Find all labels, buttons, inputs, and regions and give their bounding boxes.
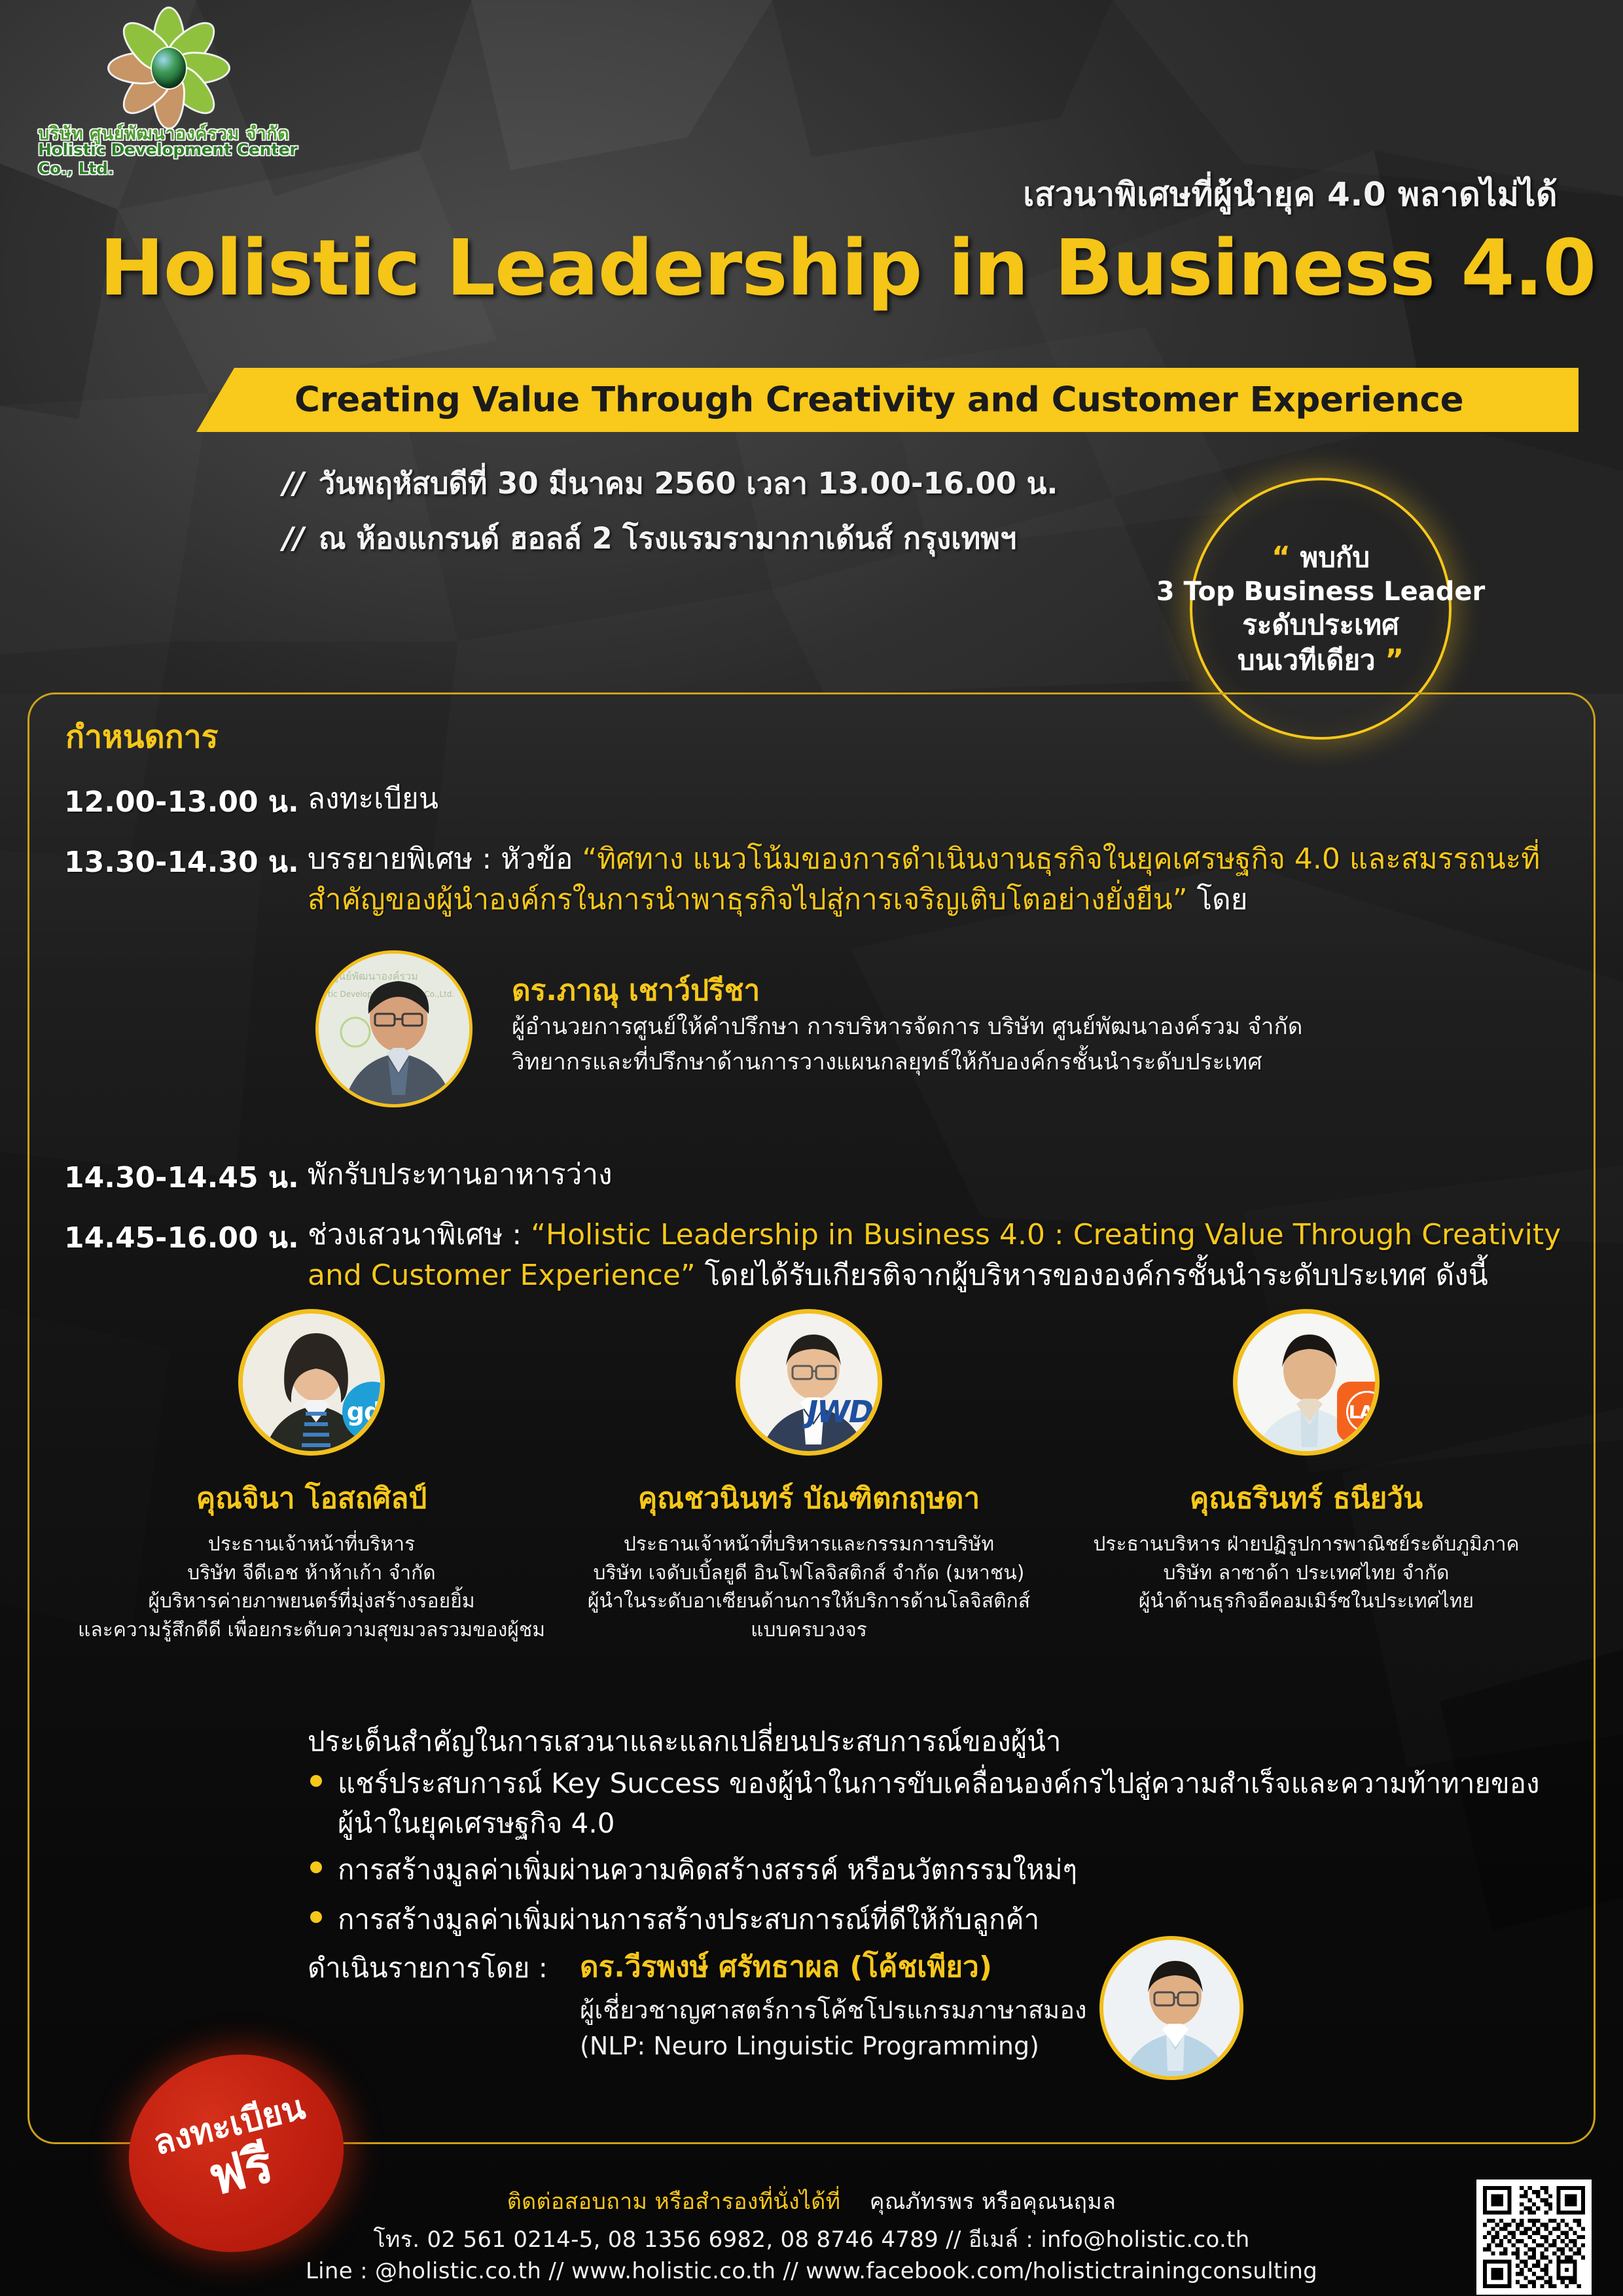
gdh-logo-text: gdh: [347, 1397, 385, 1426]
panelist-photo-1: JWD GROUP THINK EVERYTHING LOGISTICS: [736, 1309, 882, 1456]
jwd-logo-sub2: THINK EVERYTHING LOGISTICS: [875, 1408, 882, 1432]
panelist-name-0: คุณจินา โอสถศิลป์: [63, 1475, 560, 1521]
agenda-text-3-after: โดยได้รับเกียรติจากผู้บริหารขององค์กรชั้…: [696, 1259, 1488, 1292]
qr-code-icon[interactable]: [1476, 2179, 1592, 2295]
moderator-label: ดำเนินรายการโดย :: [308, 1946, 548, 1990]
svg-text:ศูนย์พัฒนาองค์รวม: ศูนย์พัฒนาองค์รวม: [332, 970, 418, 983]
keynote-speaker-photo: ศูนย์พัฒนาองค์รวม tic Development Center…: [315, 950, 473, 1107]
panelist-photo-2: LAZ: [1233, 1309, 1380, 1456]
jwd-group-logo-icon: JWD GROUP THINK EVERYTHING LOGISTICS: [807, 1382, 882, 1442]
agenda-text-3: ช่วงเสวนาพิเศษ : “Holistic Leadership in…: [308, 1215, 1564, 1297]
jwd-logo-sub: GROUP: [875, 1392, 882, 1408]
agenda-text-3-before: ช่วงเสวนาพิเศษ :: [308, 1218, 531, 1251]
badge-line-4-text: บนเวทีเดียว: [1238, 644, 1376, 676]
brand-logo: บริษัท ศูนย์พัฒนาองค์รวม จำกัด Holistic …: [38, 9, 313, 179]
page-title: Holistic Leadership in Business 4.0 :: [99, 223, 1565, 313]
footer-contact-names: คุณภัทรพร หรือคุณนฤมล: [870, 2189, 1116, 2215]
panelist-0-role-line-0: ประธานเจ้าหน้าที่บริหาร: [63, 1530, 560, 1559]
agenda-time-2: 14.30-14.45 น.: [64, 1155, 299, 1200]
panelist-1-role-line-1: บริษัท เจดับเบิ้ลยูดี อินโฟโลจิสติกส์ จำ…: [560, 1559, 1058, 1588]
topic-bullet-2: การสร้างมูลค่าเพิ่มผ่านการสร้างประสบการณ…: [308, 1899, 1564, 1939]
moderator-name: ดร.วีรพงษ์ ศรัทธาผล (โค้ชเพียว): [580, 1944, 992, 1990]
panelist-card-2: LAZ คุณธรินทร์ ธนียวัน ประธานบริหาร ฝ่าย…: [1058, 1309, 1555, 1616]
lazada-logo-text: LAZ: [1346, 1391, 1380, 1433]
subtitle-band: Creating Value Through Creativity and Cu…: [196, 368, 1578, 432]
agenda-time-3: 14.45-16.00 น.: [64, 1215, 299, 1261]
panelist-0-role-line-1: บริษัท จีดีเอช ห้าห้าเก้า จำกัด: [63, 1559, 560, 1588]
page-subtitle: Creating Value Through Creativity and Cu…: [294, 380, 1463, 420]
panelist-2-role-line-1: บริษัท ลาซาด้า ประเทศไทย จำกัด: [1058, 1559, 1555, 1588]
badge-line-1: “ พบกับ: [1272, 539, 1370, 575]
panelist-0-role-line-2: ผู้บริหารค่ายภาพยนตร์ที่มุ่งสร้างรอยยิ้ม: [63, 1587, 560, 1616]
panelist-role-2: ประธานบริหาร ฝ่ายปฏิรูปการพาณิชย์ระดับภู…: [1058, 1530, 1555, 1616]
topic-bullet-0: แชร์ประสบการณ์ Key Success ของผู้นำในการ…: [308, 1763, 1564, 1844]
badge-line-3: ระดับประเทศ: [1242, 608, 1399, 643]
moderator-line-2: ผู้เชี่ยวชาญศาสตร์การโค้ชโปรแกรมภาษาสมอง: [580, 1990, 1087, 2030]
panelist-2-role-line-2: ผู้นำด้านธุรกิจอีคอมเมิร์ซในประเทศไทย: [1058, 1587, 1555, 1616]
moderator-photo: [1099, 1936, 1243, 2080]
panelist-role-0: ประธานเจ้าหน้าที่บริหาร บริษัท จีดีเอช ห…: [63, 1530, 560, 1644]
panelist-role-1: ประธานเจ้าหน้าที่บริหารและกรรมการบริษัท …: [560, 1530, 1058, 1644]
footer-phone-email: โทร. 02 561 0214-5, 08 1356 6982, 08 874…: [0, 2221, 1623, 2257]
agenda-heading: กำหนดการ: [65, 712, 218, 762]
footer-contact-prefix: ติดต่อสอบถาม หรือสำรองที่นั่งได้ที่: [507, 2189, 841, 2215]
agenda-text-1-after: โดย: [1188, 883, 1248, 916]
quote-close-icon: ”: [1385, 643, 1404, 677]
badge-line-4: บนเวทีเดียว ”: [1238, 642, 1404, 678]
slash-marker-date: //: [283, 466, 304, 501]
panelist-name-2: คุณธรินทร์ ธนียวัน: [1058, 1475, 1555, 1521]
jwd-logo-text: JWD: [807, 1394, 872, 1429]
lazada-logo-icon: LAZ: [1337, 1382, 1380, 1442]
panelist-card-1: JWD GROUP THINK EVERYTHING LOGISTICS คุณ…: [560, 1309, 1058, 1644]
panelist-photo-0: gdh GROSS DOMESTIC HAPPINESS: [238, 1309, 385, 1456]
footer-web-social: Line : @holistic.co.th // www.holistic.c…: [0, 2258, 1623, 2284]
agenda-text-2: พักรับประทานอาหารว่าง: [308, 1155, 1564, 1195]
agenda-time-1: 13.30-14.30 น.: [64, 839, 299, 885]
agenda-text-1-before: บรรยายพิเศษ : หัวข้อ: [308, 842, 582, 876]
badge-line-2: 3 Top Business Leader: [1156, 575, 1486, 608]
footer-contact-line: ติดต่อสอบถาม หรือสำรองที่นั่งได้ที่ คุณภ…: [0, 2183, 1623, 2219]
panelist-0-role-line-3: และความรู้สึกดีดี เพื่อยกระดับความสุขมวล…: [63, 1616, 560, 1645]
badge-line-1-text: พบกับ: [1300, 541, 1370, 573]
event-venue: //ณ ห้องแกรนด์ ฮอลล์ 2 โรงแรมรามากาเด้นส…: [283, 514, 1016, 562]
globe-icon: [152, 48, 186, 88]
poster-canvas: บริษัท ศูนย์พัฒนาองค์รวม จำกัด Holistic …: [0, 0, 1623, 2296]
panelist-card-0: gdh GROSS DOMESTIC HAPPINESS คุณจินา โอส…: [63, 1309, 560, 1644]
brand-name-en: Holistic Development Center Co., Ltd.: [38, 140, 313, 178]
keynote-desc-line-1: ผู้อำนวยการศูนย์ให้คำปรึกษา การบริหารจัด…: [512, 1009, 1585, 1045]
event-date: //วันพฤหัสบดีที่ 30 มีนาคม 2560 เวลา 13.…: [283, 459, 1058, 507]
agenda-text-1: บรรยายพิเศษ : หัวข้อ “ทิศทาง แนวโน้มของก…: [308, 839, 1564, 921]
topic-bullet-1: การสร้างมูลค่าเพิ่มผ่านความคิดสร้างสรรค์…: [308, 1850, 1564, 1890]
flower-globe-logo-icon: [97, 9, 241, 127]
keynote-speaker-name: ดร.ภาณุ เชาว์ปรีชา: [512, 967, 760, 1013]
panelist-1-role-line-0: ประธานเจ้าหน้าที่บริหารและกรรมการบริษัท: [560, 1530, 1058, 1559]
event-venue-text: ณ ห้องแกรนด์ ฮอลล์ 2 โรงแรมรามากาเด้นส์ …: [319, 521, 1016, 556]
event-date-text: วันพฤหัสบดีที่ 30 มีนาคม 2560 เวลา 13.00…: [319, 466, 1058, 501]
moderator-line-3: (NLP: Neuro Linguistic Programming): [580, 2032, 1039, 2060]
slash-marker-venue: //: [283, 521, 304, 556]
panelist-1-role-line-3: แบบครบวงจร: [560, 1616, 1058, 1645]
agenda-time-0: 12.00-13.00 น.: [64, 779, 299, 825]
header-tagline: เสวนาพิเศษที่ผู้นำยุค 4.0 พลาดไม่ได้: [1023, 169, 1558, 221]
panelist-name-1: คุณชวนินทร์ บัณฑิตกฤษดา: [560, 1475, 1058, 1521]
panelist-2-role-line-0: ประธานบริหาร ฝ่ายปฏิรูปการพาณิชย์ระดับภู…: [1058, 1530, 1555, 1559]
quote-open-icon: “: [1272, 541, 1291, 574]
agenda-text-0: ลงทะเบียน: [308, 779, 1564, 819]
keynote-desc-line-2: วิทยากรและที่ปรึกษาด้านการวางแผนกลยุทธ์ใ…: [512, 1045, 1585, 1080]
panelist-1-role-line-2: ผู้นำในระดับอาเซียนด้านการให้บริการด้านโ…: [560, 1587, 1058, 1616]
topics-heading: ประเด็นสำคัญในการเสวนาและแลกเปลี่ยนประสบ…: [308, 1720, 1061, 1763]
keynote-speaker-desc: ผู้อำนวยการศูนย์ให้คำปรึกษา การบริหารจัด…: [512, 1009, 1585, 1081]
